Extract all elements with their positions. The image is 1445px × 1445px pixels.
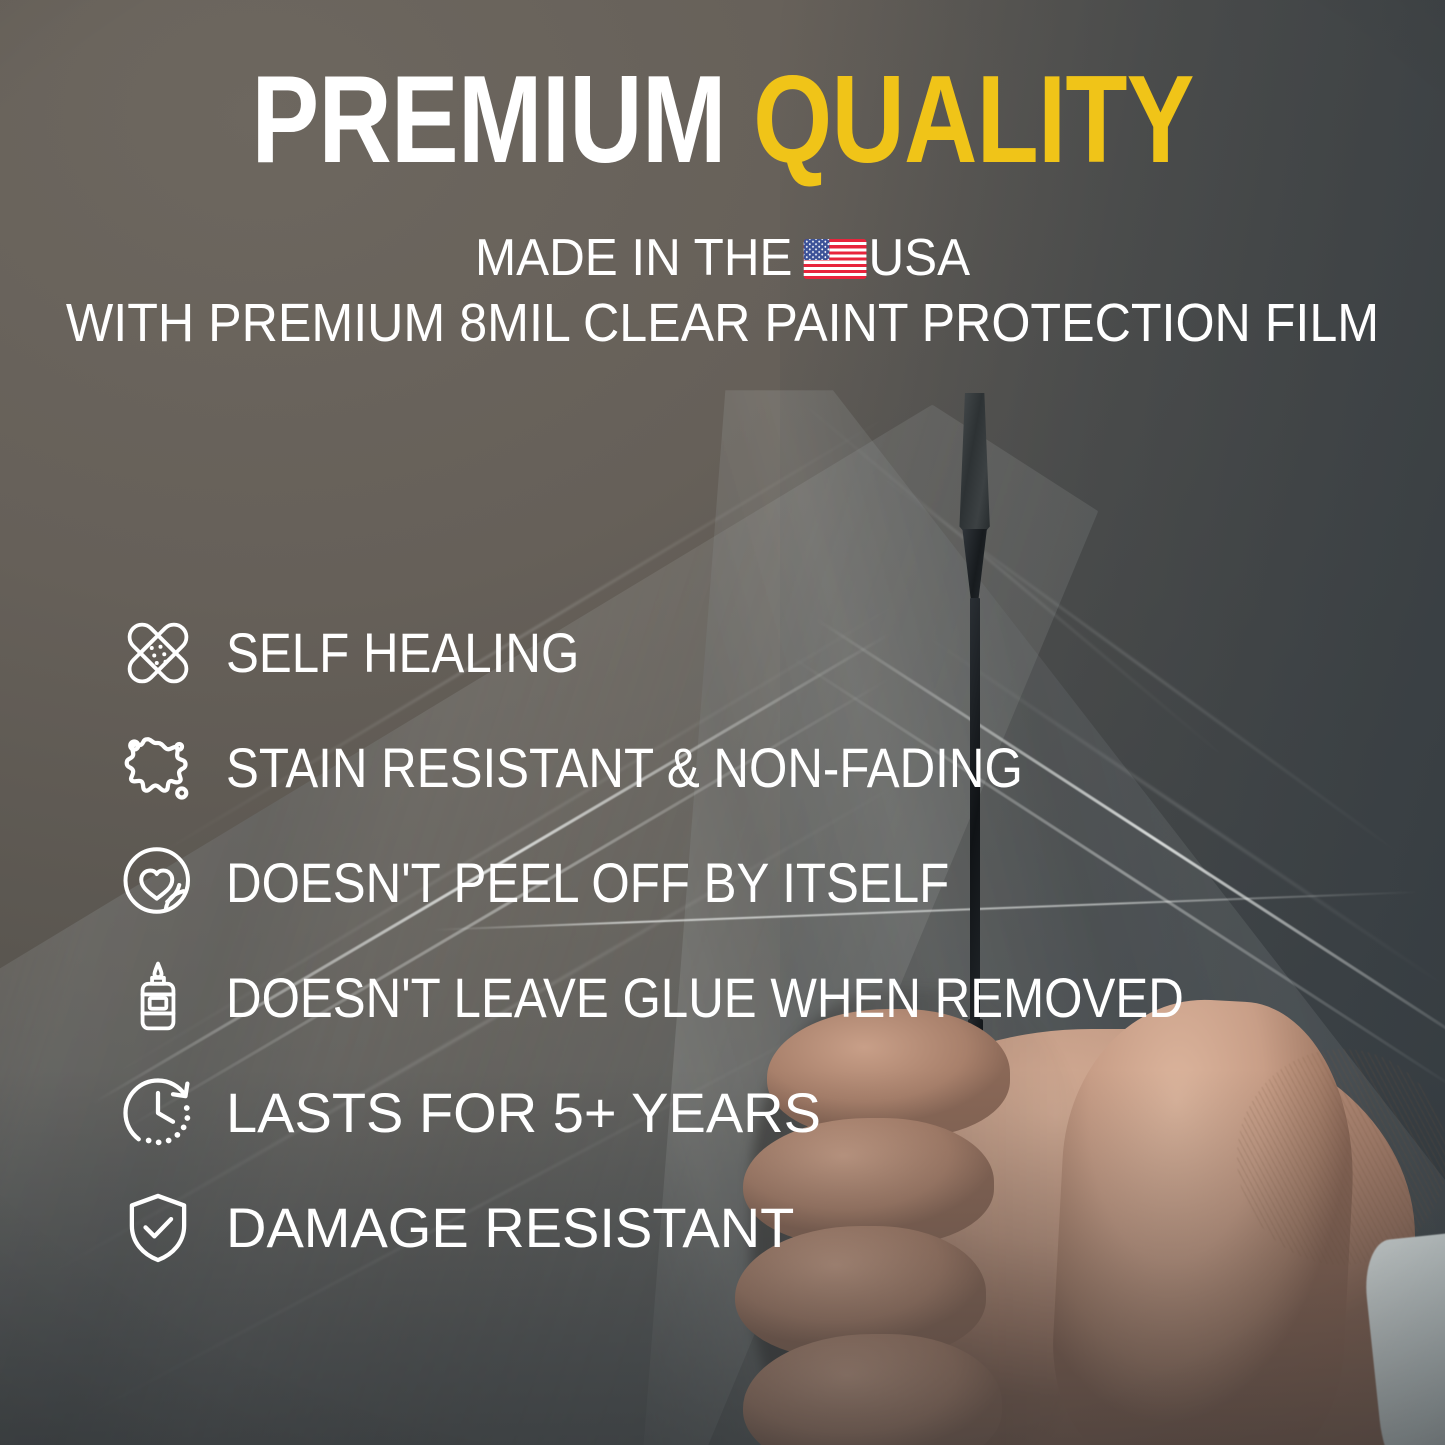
feature-row: LASTS FOR 5+ YEARS: [112, 1055, 1362, 1170]
headline-word-premium: PREMIUM: [251, 51, 725, 189]
feature-label: DAMAGE RESISTANT: [226, 1200, 794, 1256]
text-overlay: PREMIUM QUALITY MADE IN THEUSA WITH PREM…: [0, 0, 1445, 1445]
peeling-sticker-heart-icon: [112, 837, 204, 929]
feature-row: DOESN'T PEEL OFF BY ITSELF: [112, 825, 1362, 940]
feature-label: DOESN'T PEEL OFF BY ITSELF: [226, 855, 949, 911]
clock-rotate-icon: [112, 1067, 204, 1159]
feature-row: DOESN'T LEAVE GLUE WHEN REMOVED: [112, 940, 1362, 1055]
subtitle-film-spec: WITH PREMIUM 8MIL CLEAR PAINT PROTECTION…: [51, 296, 1395, 350]
feature-label: STAIN RESISTANT & NON-FADING: [226, 740, 1023, 796]
feature-row: DAMAGE RESISTANT: [112, 1170, 1362, 1285]
headline-word-quality: QUALITY: [753, 51, 1194, 189]
feature-row: SELF HEALING: [112, 595, 1362, 710]
subtitle-made-in-usa: MADE IN THEUSA: [36, 232, 1409, 284]
feature-label: DOESN'T LEAVE GLUE WHEN REMOVED: [226, 970, 1184, 1026]
feature-label: SELF HEALING: [226, 625, 579, 681]
stain-splat-icon: [112, 722, 204, 814]
feature-label: LASTS FOR 5+ YEARS: [226, 1085, 821, 1141]
subtitle-prefix: MADE IN THE: [475, 229, 792, 287]
glue-bottle-icon: [112, 952, 204, 1044]
feature-list: SELF HEALING STAIN RESISTANT & NON-FADIN…: [112, 595, 1362, 1285]
shield-check-icon: [112, 1182, 204, 1274]
product-feature-banner: PREMIUM QUALITY MADE IN THEUSA WITH PREM…: [0, 0, 1445, 1445]
feature-row: STAIN RESISTANT & NON-FADING: [112, 710, 1362, 825]
crossed-bandages-icon: [112, 607, 204, 699]
headline: PREMIUM QUALITY: [130, 58, 1315, 182]
subtitle-suffix: USA: [868, 229, 970, 287]
usa-flag-icon: [804, 239, 867, 279]
flag-stars: [804, 239, 829, 260]
